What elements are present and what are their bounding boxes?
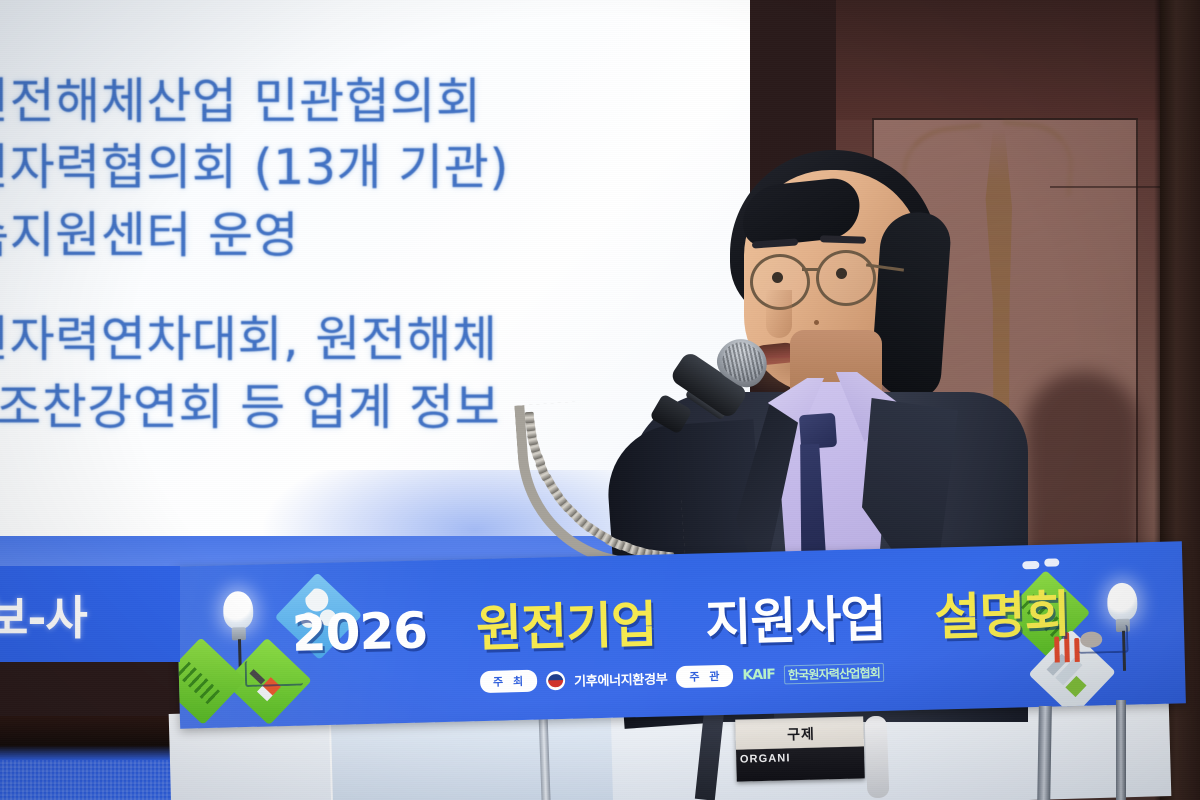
cloud-icon-2 [1044,558,1059,566]
wall-top-band [836,0,1200,120]
speaker-hair-side [870,210,953,400]
podium-stem-far-right [1116,700,1126,800]
photo-stage: 원전해체산업 민관협의회 원자력협의회 (13개 기관) 속지원센터 운영 원자… [0,0,1200,800]
host-ministry-name: 기후에너지환경부 [574,668,668,689]
badge-clip [865,716,890,799]
slide-line-1: 원전해체산업 민관협의회 [0,62,481,133]
organizer-association-name: 한국원자력산업협회 [784,662,885,684]
podium-glass-panel [329,713,613,800]
speaker-nose [766,290,792,338]
banner-title-part-3: 지원사업 [705,590,886,653]
host-label-pill: 주 최 [480,670,538,693]
badge-role-text: ORGANI [740,750,860,771]
organizer-label-pill: 주 관 [676,665,734,688]
round-glasses-lens-right-icon [816,250,876,306]
cloud-icon-1 [1022,561,1039,569]
slide-line-2: 원자력협의회 (13개 기관) [0,128,509,199]
badge-korean-text: 구제 [746,723,857,748]
slide-line-5: , 조찬강연회 등 업계 정보 [0,368,500,439]
banner-title-part-2: 원전기업 [476,596,657,659]
banner-title-year: 2026 [291,601,428,662]
speaker-mole [814,320,819,325]
slide-line-3: 속지원센터 운영 [0,196,299,267]
korean-government-logo-icon [546,670,565,689]
gooseneck-segment [525,412,535,424]
banner-title-part-4: 설명회 [934,585,1070,646]
kaif-logo-mark: KAIF [742,667,775,684]
slide-line-4: 원자력연차대회, 원전해체 [0,300,498,371]
podium-banner: 2026 원전기업 지원사업 설명회 주 최 기후에너지환경부 주 관 KAIF… [176,541,1186,728]
speaker-tie-knot [799,413,837,449]
glasses-bridge-icon [802,268,820,271]
podium-stem-right [1037,706,1052,800]
left-screen-text: 보-사 [0,582,186,648]
